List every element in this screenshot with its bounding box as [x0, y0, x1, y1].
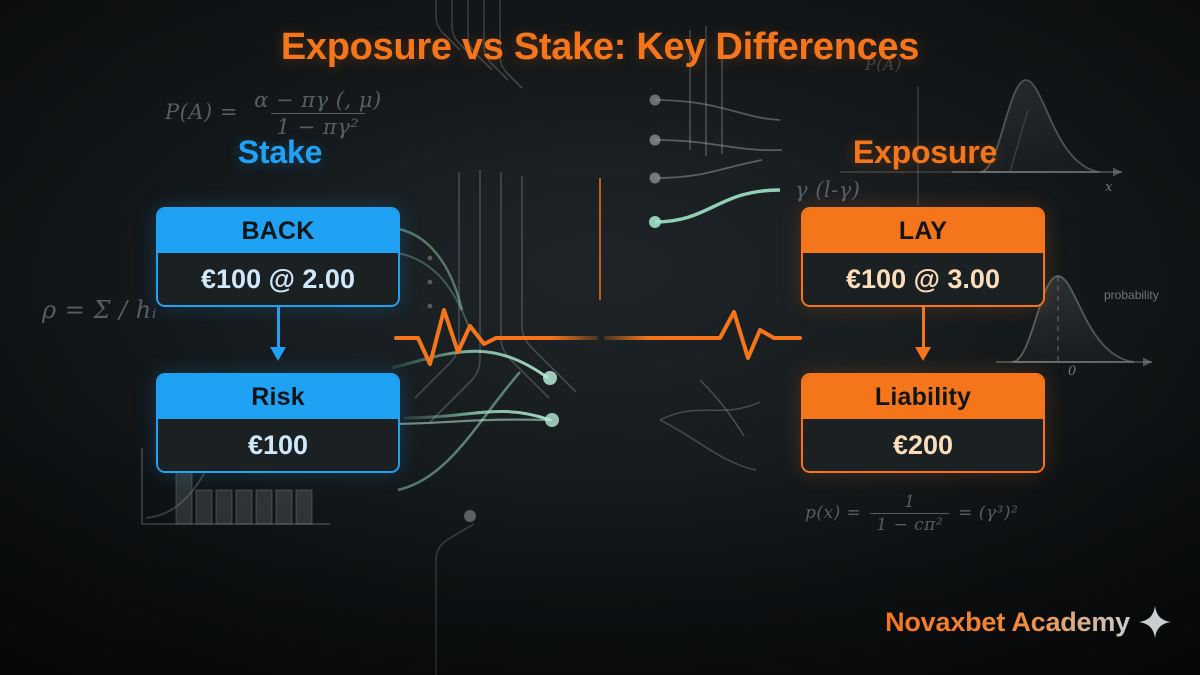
- formula-probability-a: P(A) = α − πγ (, μ) 1 − πγ²: [165, 88, 391, 139]
- sparkle-icon: [1138, 605, 1172, 639]
- circuit-traces-mid: [415, 170, 576, 422]
- card-liability: Liability €200: [801, 373, 1045, 473]
- card-lay-value: €100 @ 3.00: [803, 253, 1043, 305]
- formula-px-lhs: p(x) =: [805, 503, 861, 523]
- arrow-shaft: [277, 305, 280, 349]
- pulse-line-right: [606, 312, 800, 358]
- formula-px: p(x) = 1 1 − cπ² = (γ³)²: [805, 492, 1018, 535]
- arrow-head-down-icon: [915, 347, 931, 361]
- card-risk: Risk €100: [156, 373, 400, 473]
- axis-label-probability: probability: [1104, 288, 1159, 302]
- formula-gamma: γ (l-γ): [795, 178, 860, 202]
- column-heading-exposure: Exposure: [800, 134, 1050, 171]
- card-liability-value: €200: [803, 419, 1043, 471]
- highlight-wire-green: [655, 190, 780, 222]
- curve-endpoint-dot: [543, 371, 557, 385]
- column-heading-stake: Stake: [155, 134, 405, 171]
- card-lay: LAY €100 @ 3.00: [801, 207, 1045, 307]
- card-back-label: BACK: [158, 209, 398, 253]
- circuit-trace-bottom-bend: [436, 524, 474, 560]
- axis-label-zero: 0: [1068, 364, 1076, 379]
- formula-rho: ρ = Σ / hᵢ: [42, 296, 157, 324]
- brand-name: Novaxbet Academy: [885, 607, 1130, 638]
- circuit-node: [464, 510, 476, 522]
- highlight-node-green: [649, 216, 661, 228]
- formula-pa-fraction: α − πγ (, μ) 1 − πγ²: [248, 88, 388, 139]
- card-back: BACK €100 @ 2.00: [156, 207, 400, 307]
- dot-ticks: [428, 256, 433, 309]
- card-risk-value: €100: [158, 419, 398, 471]
- curve-endpoint-dot: [545, 413, 559, 427]
- formula-px-denominator: 1 − cπ²: [870, 513, 949, 535]
- formula-px-fraction: 1 1 − cπ²: [870, 492, 949, 535]
- arrow-shaft: [922, 305, 925, 349]
- green-curves: [392, 228, 559, 490]
- card-liability-label: Liability: [803, 375, 1043, 419]
- formula-pa-lhs: P(A) =: [165, 100, 238, 124]
- formula-px-rhs: = (γ³)²: [958, 503, 1018, 523]
- pulse-line-left: [396, 310, 596, 364]
- formula-px-numerator: 1: [898, 492, 921, 513]
- slide-canvas: P(A) P(A) = α − πγ (, μ) 1 − πγ² ρ = Σ /…: [0, 0, 1200, 675]
- axis-label-x: x: [1105, 180, 1112, 195]
- slide-title: Exposure vs Stake: Key Differences: [0, 26, 1200, 69]
- brand-footer: Novaxbet Academy: [885, 605, 1172, 639]
- node-fan-right: [649, 26, 782, 470]
- arrow-head-down-icon: [270, 347, 286, 361]
- formula-pa-numerator: α − πγ (, μ): [248, 88, 388, 113]
- card-back-value: €100 @ 2.00: [158, 253, 398, 305]
- card-lay-label: LAY: [803, 209, 1043, 253]
- card-risk-label: Risk: [158, 375, 398, 419]
